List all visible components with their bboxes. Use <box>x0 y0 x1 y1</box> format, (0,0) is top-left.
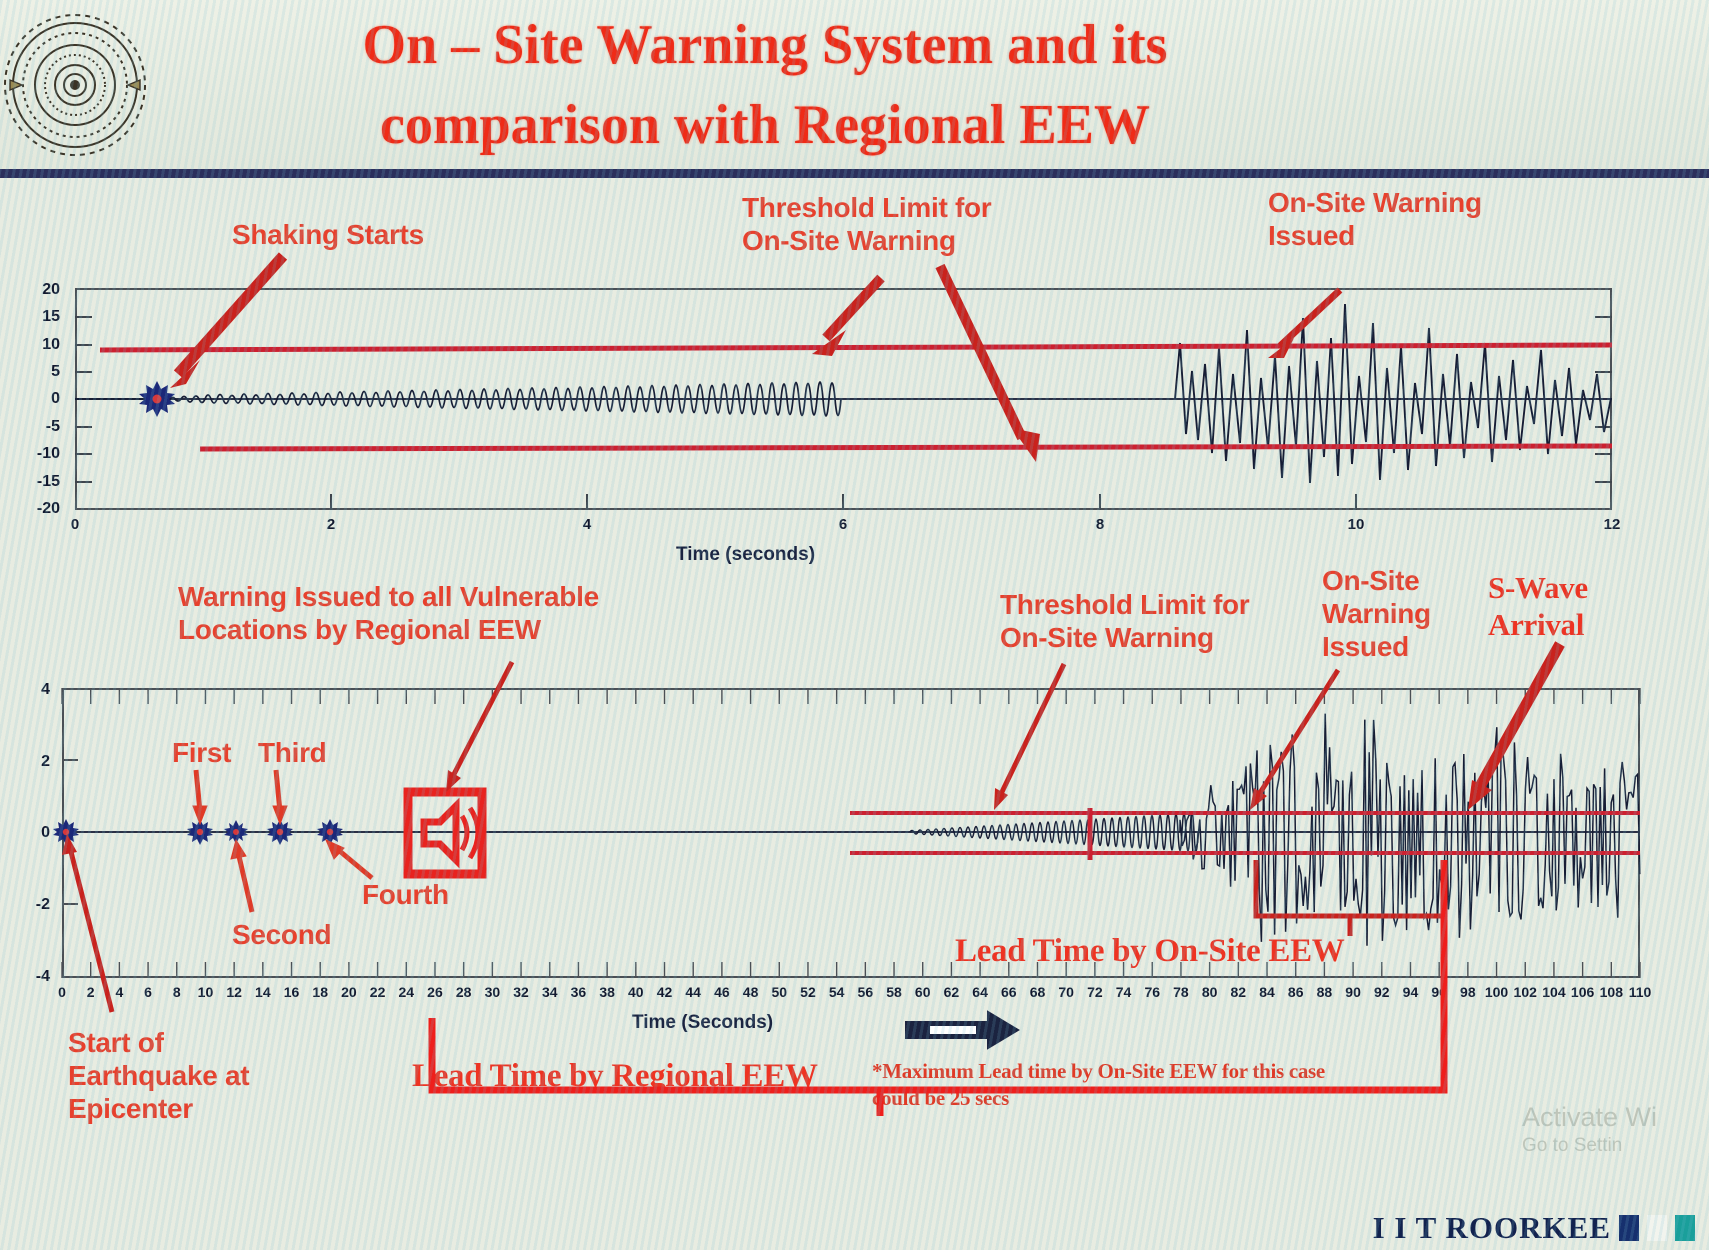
page-title: On – Site Warning System and its compari… <box>150 6 1380 165</box>
arrow-threshold-bottom <box>994 664 1064 810</box>
bottom-marker-arrows <box>193 770 372 912</box>
brand-swatch-navy <box>1619 1215 1639 1241</box>
bracket-lead-time-regional <box>432 860 1444 1116</box>
page-title-line1: On – Site Warning System and its <box>150 6 1380 86</box>
top-chart-graphics <box>0 178 1709 588</box>
iit-roorkee-emblem-icon <box>0 8 150 163</box>
page-title-line2: comparison with Regional EEW <box>150 86 1380 166</box>
top-acceleration-trace-late <box>1175 304 1611 483</box>
top-upper-threshold-line <box>100 345 1612 350</box>
footer-brand: I I T ROORKEE <box>1373 1210 1695 1246</box>
footer-brand-text: I I T ROORKEE <box>1373 1210 1611 1246</box>
top-lower-threshold-line <box>200 446 1612 449</box>
watermark-line1: Activate Wi <box>1522 1101 1657 1135</box>
bottom-regional-trace-s <box>1180 714 1640 946</box>
arrow-start-of-earthquake <box>62 834 112 1012</box>
bottom-chart-graphics <box>0 560 1709 1250</box>
windows-activation-watermark: Activate Wi Go to Settin <box>1522 1101 1657 1159</box>
slide-header: On – Site Warning System and its compari… <box>0 0 1709 178</box>
arrow-regional-warning <box>446 662 512 792</box>
brand-swatch-teal <box>1675 1215 1695 1241</box>
arrow-threshold-to-lower <box>940 266 1040 462</box>
slide-canvas: On – Site Warning System and its compari… <box>0 0 1709 1250</box>
bottom-chart-panel: Warning Issued to all Vulnerable Locatio… <box>0 560 1709 1250</box>
top-chart-panel: Shaking Starts Threshold Limit for On-Si… <box>0 178 1709 588</box>
arrow-threshold-limit <box>812 278 881 356</box>
arrow-shaking-starts <box>170 256 283 388</box>
watermark-line2: Go to Settin <box>1522 1134 1657 1158</box>
time-direction-arrow-icon <box>906 1012 1018 1048</box>
brand-swatch-white <box>1647 1215 1667 1241</box>
